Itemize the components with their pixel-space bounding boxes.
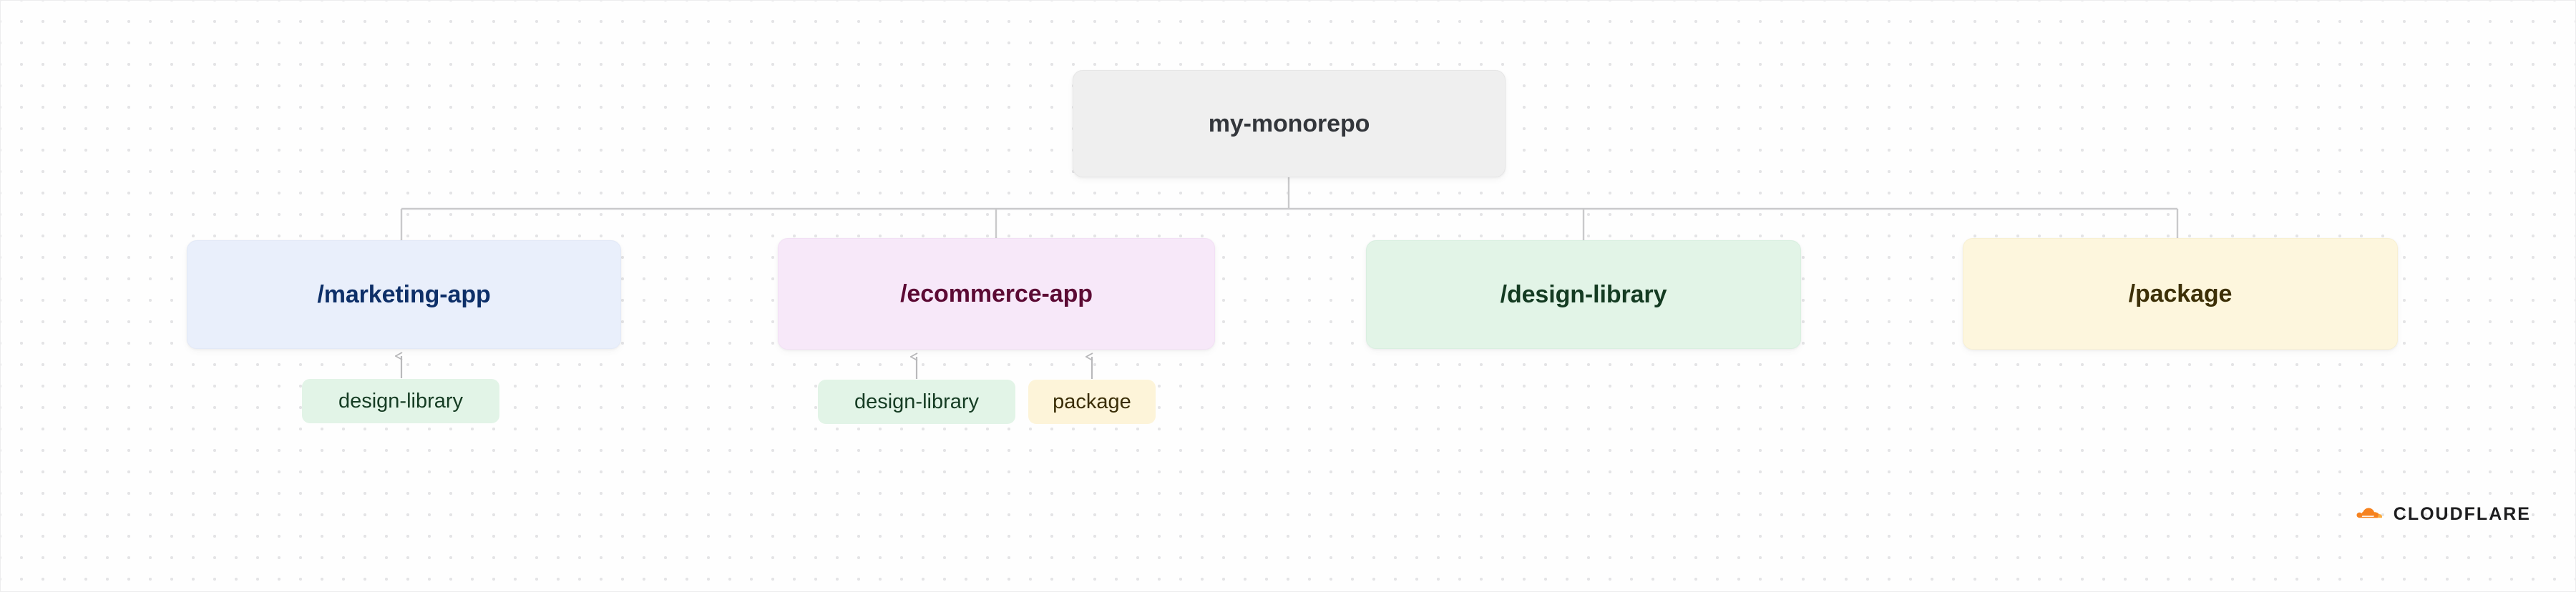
node-package[interactable]: /package <box>1963 238 2398 350</box>
cloudflare-logo: CLOUDFLARE <box>2356 495 2531 533</box>
dependency-chip-label: design-library <box>854 390 979 414</box>
node-label: my-monorepo <box>1209 110 1370 138</box>
dependency-chip-label: design-library <box>338 390 463 413</box>
node-label: /design-library <box>1501 281 1667 309</box>
node-label: /ecommerce-app <box>900 280 1093 308</box>
cloudflare-cloud-icon <box>2356 500 2384 528</box>
node-label: /package <box>2129 280 2233 308</box>
node-ecommerce-app[interactable]: /ecommerce-app <box>778 238 1215 350</box>
dependency-chip-design-library[interactable]: design-library <box>302 379 499 423</box>
node-marketing-app[interactable]: /marketing-app <box>187 240 621 349</box>
dependency-chip-label: package <box>1053 390 1131 414</box>
node-label: /marketing-app <box>317 281 490 309</box>
diagram-canvas: my-monorepo /marketing-app /ecommerce-ap… <box>0 0 2576 592</box>
dependency-chip-design-library[interactable]: design-library <box>818 380 1015 424</box>
node-design-library[interactable]: /design-library <box>1366 240 1801 349</box>
dependency-chip-package[interactable]: package <box>1028 380 1156 424</box>
cloudflare-wordmark: CLOUDFLARE <box>2394 505 2531 523</box>
node-my-monorepo[interactable]: my-monorepo <box>1073 70 1506 177</box>
